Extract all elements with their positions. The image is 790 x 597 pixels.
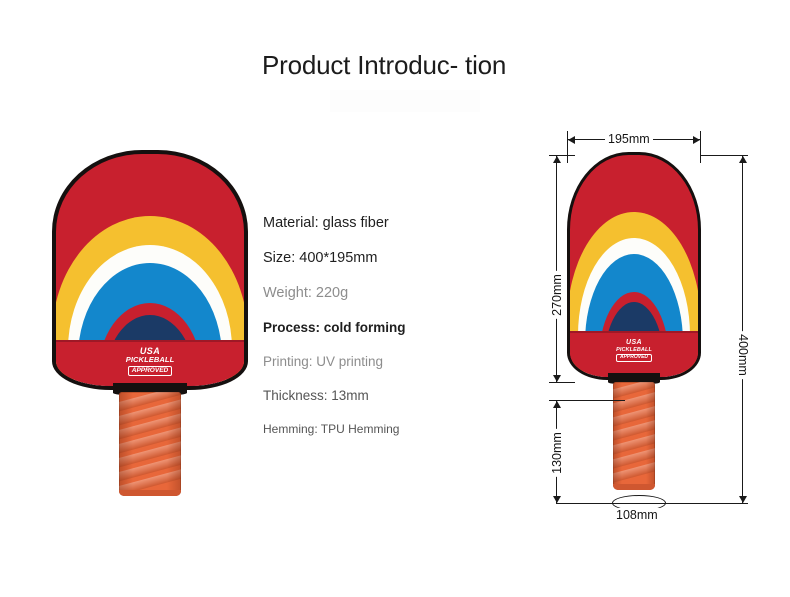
spec-size: Size: 400*195mm bbox=[263, 241, 493, 276]
dim-label-butt-width: 108mm bbox=[613, 508, 661, 522]
dim-label-face-height: 270mm bbox=[550, 271, 564, 319]
spec-process: Process: cold forming bbox=[263, 311, 493, 345]
usa-pickleball-badge: USA PICKLEBALL APPROVED bbox=[570, 339, 698, 362]
arrow-width-right bbox=[693, 136, 700, 144]
paddle-grip bbox=[119, 392, 181, 496]
face-foot-line bbox=[52, 340, 248, 342]
grip-shade-right bbox=[646, 382, 655, 490]
arrow-face-bottom bbox=[553, 375, 561, 382]
paddle-grip bbox=[613, 382, 655, 490]
arrow-total-top bbox=[739, 156, 747, 163]
product-image-paddle-right: USA PICKLEBALL APPROVED bbox=[567, 152, 701, 497]
paddle-face: USA PICKLEBALL APPROVED bbox=[52, 150, 248, 390]
badge-line-approved: APPROVED bbox=[128, 366, 172, 375]
dim-line-face-height bbox=[556, 155, 557, 382]
page-title: Product Introduc- tion bbox=[262, 48, 508, 82]
arrow-handle-top bbox=[553, 401, 561, 408]
product-image-paddle-left: USA PICKLEBALL APPROVED bbox=[52, 150, 248, 495]
grip-shade-right bbox=[167, 392, 181, 496]
face-foot-line bbox=[567, 331, 701, 333]
spec-material: Material: glass fiber bbox=[263, 206, 493, 241]
grip-shade-left bbox=[613, 382, 622, 490]
dim-label-handle-length: 130mm bbox=[550, 429, 564, 477]
grip-butt-cap bbox=[613, 484, 655, 490]
arrow-face-top bbox=[553, 156, 561, 163]
specification-list: Material: glass fiber Size: 400*195mm We… bbox=[263, 206, 493, 445]
ext-line-width-right bbox=[700, 131, 701, 163]
spec-hemming: Hemming: TPU Hemming bbox=[263, 413, 493, 445]
dim-line-total-length bbox=[742, 155, 743, 503]
ext-line-face-bottom bbox=[549, 382, 575, 383]
arrow-total-bottom bbox=[739, 496, 747, 503]
badge-line-pickleball: PICKLEBALL bbox=[56, 356, 244, 364]
usa-pickleball-badge: USA PICKLEBALL APPROVED bbox=[56, 346, 244, 376]
badge-line-usa: USA bbox=[570, 339, 698, 347]
arrow-handle-bottom bbox=[553, 496, 561, 503]
title-watermark bbox=[330, 90, 480, 112]
spec-thickness: Thickness: 13mm bbox=[263, 379, 493, 413]
badge-line-approved: APPROVED bbox=[616, 354, 652, 362]
spec-weight: Weight: 220g bbox=[263, 276, 493, 311]
paddle-face-dimensioned: USA PICKLEBALL APPROVED bbox=[567, 152, 701, 380]
grip-butt-cap bbox=[119, 490, 181, 496]
dim-label-width: 195mm bbox=[605, 132, 653, 146]
grip-shade-left bbox=[119, 392, 133, 496]
arrow-width-left bbox=[568, 136, 575, 144]
spec-printing: Printing: UV printing bbox=[263, 345, 493, 379]
dim-label-total-length: 400mm bbox=[736, 331, 750, 379]
